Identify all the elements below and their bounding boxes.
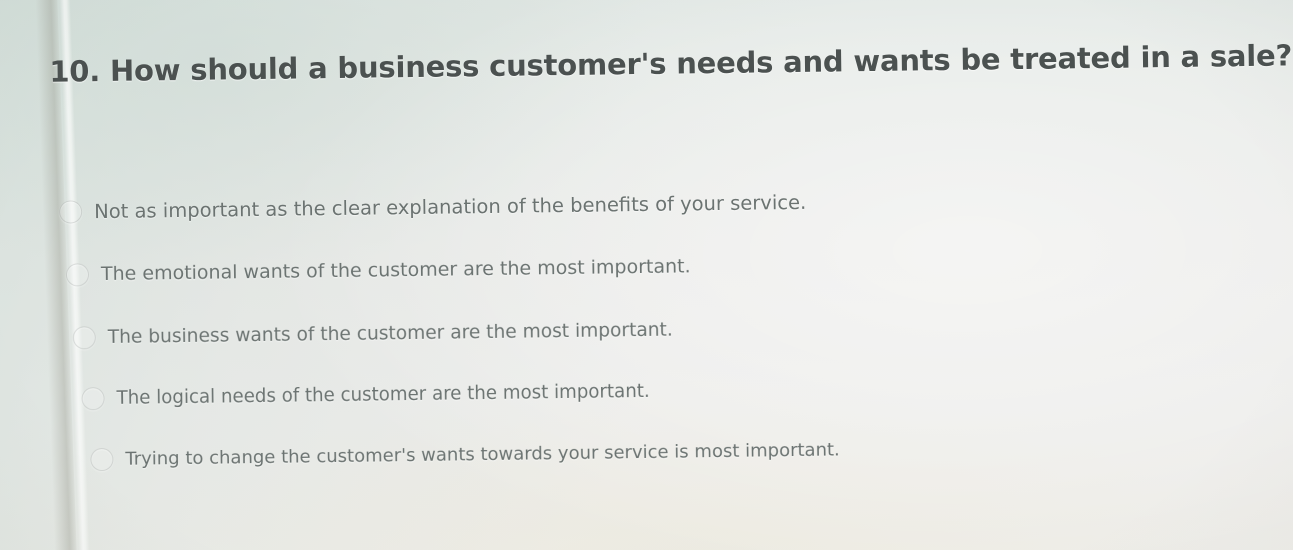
answer-option-label: The business wants of the customer are t…	[108, 319, 673, 347]
radio-button-icon[interactable]	[59, 200, 82, 223]
radio-button-icon[interactable]	[90, 447, 113, 470]
answer-option-label: The emotional wants of the customer are …	[101, 255, 691, 285]
answer-option-5[interactable]: Trying to change the customer's wants to…	[90, 434, 840, 474]
answer-option-2[interactable]: The emotional wants of the customer are …	[66, 251, 691, 289]
answer-option-3[interactable]: The business wants of the customer are t…	[73, 315, 673, 353]
quiz-content: 10. How should a business customer's nee…	[0, 0, 1293, 550]
answer-option-label: The logical needs of the customer are th…	[116, 380, 649, 408]
answer-option-1[interactable]: Not as important as the clear explanatio…	[59, 187, 806, 227]
answer-option-label: Not as important as the clear explanatio…	[94, 190, 806, 222]
answer-option-label: Trying to change the customer's wants to…	[125, 439, 840, 469]
answer-options-list: Not as important as the clear explanatio…	[0, 174, 1292, 191]
quiz-screenshot: 10. How should a business customer's nee…	[0, 0, 1293, 550]
question-title: 10. How should a business customer's nee…	[49, 38, 1292, 88]
radio-button-icon[interactable]	[73, 326, 96, 349]
answer-option-4[interactable]: The logical needs of the customer are th…	[81, 376, 649, 413]
radio-button-icon[interactable]	[66, 263, 89, 286]
radio-button-icon[interactable]	[81, 387, 104, 410]
